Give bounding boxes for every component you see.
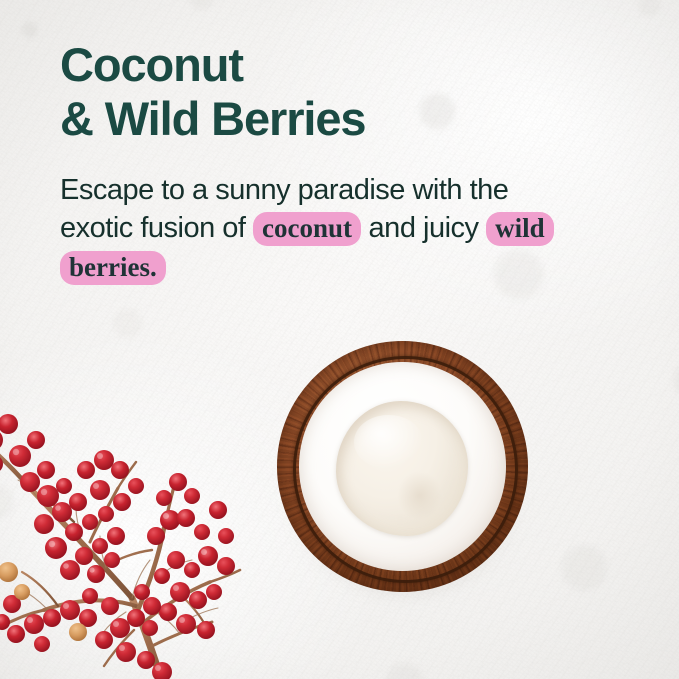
coconut-cavity [336,401,468,536]
text-block: Coconut & Wild Berries Escape to a sunny… [60,38,580,286]
headline-line-1: Coconut [60,38,243,91]
headline-line-2: & Wild Berries [60,92,580,146]
product-banner: Coconut & Wild Berries Escape to a sunny… [0,0,679,679]
coconut-image [277,341,528,592]
highlight-coconut: coconut [253,212,361,246]
berry-branch-image [0,360,246,679]
page-title: Coconut & Wild Berries [60,38,580,145]
berry-cluster [0,414,235,679]
description-part-2: and juicy [361,212,486,244]
description-text: Escape to a sunny paradise with the exot… [60,145,580,286]
